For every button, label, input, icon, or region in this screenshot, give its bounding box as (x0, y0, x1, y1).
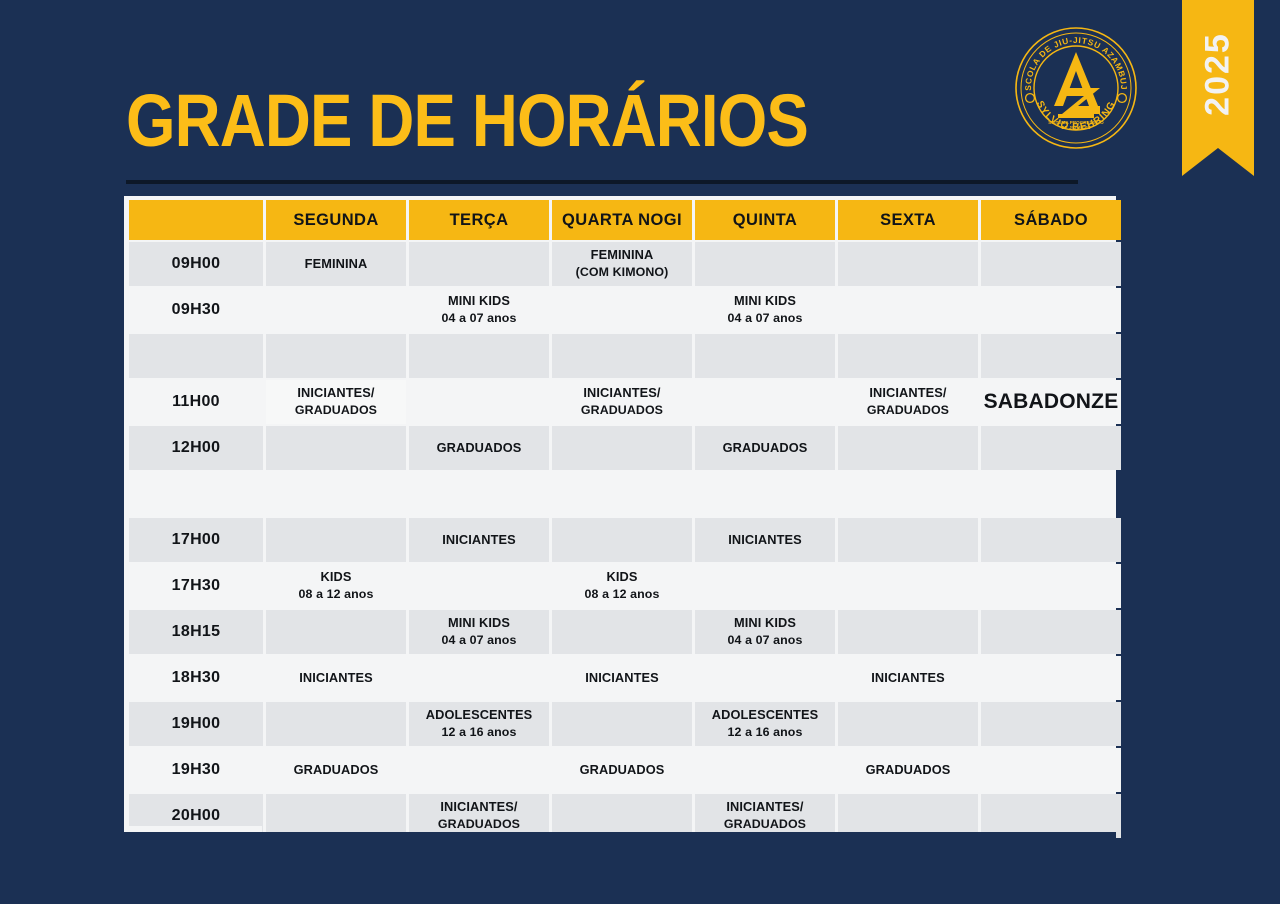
empty-cell (695, 380, 835, 424)
class-cell[interactable]: MINI KIDS04 a 07 anos (409, 288, 549, 332)
row-time-label: 18H15 (129, 610, 263, 654)
class-name: INICIANTES/ (297, 385, 374, 400)
schedule-row: 12H00GRADUADOSGRADUADOS (129, 426, 1121, 470)
column-header-sexta: SEXTA (838, 200, 978, 240)
class-age-range: GRADUADOS (695, 816, 835, 832)
class-age-range: 08 a 12 anos (552, 586, 692, 602)
row-time-label: 09H30 (129, 288, 263, 332)
class-cell[interactable]: GRADUADOS (266, 748, 406, 792)
empty-cell (266, 702, 406, 746)
schedule-row: 17H00INICIANTESINICIANTES (129, 518, 1121, 562)
class-cell[interactable]: INICIANTES (409, 518, 549, 562)
class-name: MINI KIDS (734, 293, 796, 308)
class-cell[interactable]: ADOLESCENTES12 a 16 anos (695, 702, 835, 746)
empty-cell (266, 288, 406, 332)
class-name: INICIANTES/ (440, 799, 517, 814)
class-cell[interactable]: FEMININA (266, 242, 406, 286)
header-row: SEGUNDATERÇAQUARTA NOGIQUINTASEXTASÁBADO (129, 200, 1121, 240)
class-name: GRADUADOS (866, 762, 951, 777)
empty-cell (266, 426, 406, 470)
class-name: MINI KIDS (734, 615, 796, 630)
row-time-label: 19H00 (129, 702, 263, 746)
class-cell[interactable]: INICIANTES (838, 656, 978, 700)
empty-cell (981, 426, 1121, 470)
empty-cell (409, 472, 549, 516)
row-time-label (129, 472, 263, 516)
class-cell[interactable]: INICIANTES/GRADUADOS (266, 380, 406, 424)
empty-cell (838, 426, 978, 470)
column-header-terça: TERÇA (409, 200, 549, 240)
row-time-label: 09H00 (129, 242, 263, 286)
class-cell[interactable]: INICIANTES (266, 656, 406, 700)
class-cell[interactable]: KIDS08 a 12 anos (266, 564, 406, 608)
class-name: FEMININA (305, 256, 368, 271)
empty-cell (695, 564, 835, 608)
empty-cell (552, 518, 692, 562)
empty-cell (838, 334, 978, 378)
empty-cell (981, 656, 1121, 700)
empty-cell (981, 702, 1121, 746)
class-age-range: GRADUADOS (838, 402, 978, 418)
empty-cell (838, 518, 978, 562)
class-age-range: 08 a 12 anos (266, 586, 406, 602)
empty-cell (266, 610, 406, 654)
year-ribbon: 2025 (1182, 0, 1254, 148)
svg-text:DE JIU-JITSU: DE JIU-JITSU (1061, 125, 1091, 130)
table-bottom-strip (124, 832, 1116, 840)
row-time-label (129, 334, 263, 378)
empty-cell (695, 748, 835, 792)
empty-cell (552, 334, 692, 378)
column-header-sábado: SÁBADO (981, 200, 1121, 240)
empty-cell (552, 288, 692, 332)
year-ribbon-label: 2025 (1199, 32, 1238, 116)
class-age-range: 04 a 07 anos (409, 310, 549, 326)
empty-cell (552, 426, 692, 470)
empty-cell (552, 472, 692, 516)
schedule-row: 19H30GRADUADOSGRADUADOSGRADUADOS (129, 748, 1121, 792)
schedule-row: 18H15MINI KIDS04 a 07 anosMINI KIDS04 a … (129, 610, 1121, 654)
schedule-row: 09H30MINI KIDS04 a 07 anosMINI KIDS04 a … (129, 288, 1121, 332)
class-name: KIDS (321, 569, 352, 584)
class-name: FEMININA (591, 247, 654, 262)
schedule-row (129, 334, 1121, 378)
empty-cell (266, 472, 406, 516)
class-name: GRADUADOS (294, 762, 379, 777)
class-cell[interactable]: GRADUADOS (838, 748, 978, 792)
empty-cell (266, 518, 406, 562)
empty-cell (981, 472, 1121, 516)
class-name: ADOLESCENTES (426, 707, 532, 722)
row-time-label: 11H00 (129, 380, 263, 424)
class-name: GRADUADOS (723, 440, 808, 455)
class-name: INICIANTES (442, 532, 516, 547)
class-cell[interactable]: KIDS08 a 12 anos (552, 564, 692, 608)
column-header-quinta: QUINTA (695, 200, 835, 240)
empty-cell (695, 334, 835, 378)
empty-cell (981, 288, 1121, 332)
class-age-range: 12 a 16 anos (695, 724, 835, 740)
row-time-label: 19H30 (129, 748, 263, 792)
class-cell[interactable]: INICIANTES (552, 656, 692, 700)
class-cell[interactable]: MINI KIDS04 a 07 anos (409, 610, 549, 654)
class-name: MINI KIDS (448, 615, 510, 630)
column-header-quarta-nogi: QUARTA NOGI (552, 200, 692, 240)
class-cell[interactable]: ADOLESCENTES12 a 16 anos (409, 702, 549, 746)
empty-cell (266, 334, 406, 378)
class-name: KIDS (607, 569, 638, 584)
class-cell[interactable]: GRADUADOS (695, 426, 835, 470)
class-age-range: GRADUADOS (409, 816, 549, 832)
class-name: GRADUADOS (437, 440, 522, 455)
empty-cell (552, 702, 692, 746)
empty-cell (838, 564, 978, 608)
title-divider (126, 180, 1078, 184)
empty-cell (981, 242, 1121, 286)
class-cell[interactable]: INICIANTES (695, 518, 835, 562)
class-cell[interactable]: MINI KIDS04 a 07 anos (695, 610, 835, 654)
empty-cell (409, 380, 549, 424)
empty-cell (695, 656, 835, 700)
class-cell[interactable]: GRADUADOS (552, 748, 692, 792)
class-name: INICIANTES (299, 670, 373, 685)
class-age-range: 12 a 16 anos (409, 724, 549, 740)
column-header-segunda: SEGUNDA (266, 200, 406, 240)
empty-cell (409, 334, 549, 378)
schedule-table-body: 09H00FEMININAFEMININA(COM KIMONO)09H30MI… (129, 242, 1121, 838)
class-age-range: (COM KIMONO) (552, 264, 692, 280)
empty-cell (838, 242, 978, 286)
empty-cell (409, 564, 549, 608)
class-cell[interactable]: FEMININA(COM KIMONO) (552, 242, 692, 286)
class-age-range: 04 a 07 anos (695, 632, 835, 648)
row-time-label: 17H30 (129, 564, 263, 608)
empty-cell (552, 610, 692, 654)
class-name: INICIANTES (728, 532, 802, 547)
empty-cell (981, 564, 1121, 608)
class-name: INICIANTES (585, 670, 659, 685)
empty-cell (981, 518, 1121, 562)
class-name: MINI KIDS (448, 293, 510, 308)
schedule-row: 19H00ADOLESCENTES12 a 16 anosADOLESCENTE… (129, 702, 1121, 746)
academy-logo: ESCOLA DE JIU-JITSU AZAMBUJA SYLVIO BEHR… (1014, 26, 1138, 150)
class-cell[interactable]: SABADONZE (981, 380, 1121, 424)
class-name: GRADUADOS (580, 762, 665, 777)
schedule-row: 17H30KIDS08 a 12 anosKIDS08 a 12 anos (129, 564, 1121, 608)
class-age-range: 04 a 07 anos (409, 632, 549, 648)
class-name: INICIANTES/ (869, 385, 946, 400)
class-name: ADOLESCENTES (712, 707, 818, 722)
class-cell[interactable]: INICIANTES/GRADUADOS (552, 380, 692, 424)
class-age-range: GRADUADOS (552, 402, 692, 418)
class-cell[interactable]: MINI KIDS04 a 07 anos (695, 288, 835, 332)
class-name: SABADONZE (984, 390, 1119, 413)
schedule-table-container: SEGUNDATERÇAQUARTA NOGIQUINTASEXTASÁBADO… (124, 196, 1116, 832)
class-name: INICIANTES (871, 670, 945, 685)
empty-cell (981, 610, 1121, 654)
empty-cell (838, 610, 978, 654)
empty-cell (409, 656, 549, 700)
schedule-row: 11H00INICIANTES/GRADUADOSINICIANTES/GRAD… (129, 380, 1121, 424)
empty-cell (695, 242, 835, 286)
class-cell[interactable]: GRADUADOS (409, 426, 549, 470)
empty-cell (838, 702, 978, 746)
empty-cell (838, 288, 978, 332)
empty-cell (981, 334, 1121, 378)
empty-cell (409, 748, 549, 792)
column-header-time (129, 200, 263, 240)
empty-cell (838, 472, 978, 516)
schedule-row (129, 472, 1121, 516)
empty-cell (981, 748, 1121, 792)
row-time-label: 17H00 (129, 518, 263, 562)
class-age-range: 04 a 07 anos (695, 310, 835, 326)
row-time-label: 18H30 (129, 656, 263, 700)
row-time-label: 12H00 (129, 426, 263, 470)
schedule-row: 09H00FEMININAFEMININA(COM KIMONO) (129, 242, 1121, 286)
empty-cell (695, 472, 835, 516)
class-cell[interactable]: INICIANTES/GRADUADOS (838, 380, 978, 424)
empty-cell (409, 242, 549, 286)
page-title: GRADE DE HORÁRIOS (126, 84, 808, 158)
class-name: INICIANTES/ (583, 385, 660, 400)
schedule-table-head: SEGUNDATERÇAQUARTA NOGIQUINTASEXTASÁBADO (129, 200, 1121, 240)
schedule-row: 18H30INICIANTESINICIANTESINICIANTES (129, 656, 1121, 700)
class-age-range: GRADUADOS (266, 402, 406, 418)
class-name: INICIANTES/ (726, 799, 803, 814)
schedule-table: SEGUNDATERÇAQUARTA NOGIQUINTASEXTASÁBADO… (126, 198, 1124, 840)
